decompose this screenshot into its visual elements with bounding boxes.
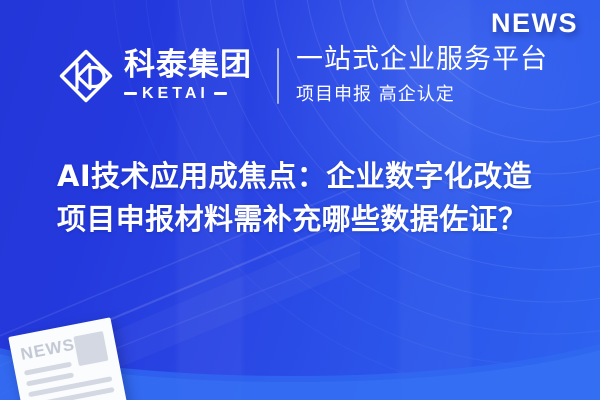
news-badge: NEWS — [491, 8, 578, 39]
brand-wordmark: 科泰集团 KETAI — [124, 49, 252, 103]
headline-title: AI技术应用成焦点：企业数字化改造项目申报材料需补充哪些数据佐证？ — [57, 155, 557, 241]
tagline-block: 一站式企业服务平台 项目申报 高企认定 — [296, 44, 548, 106]
brand-name-en: KETAI — [142, 85, 209, 103]
brand-name-en-row: KETAI — [124, 85, 252, 103]
dash-right-decoration — [214, 92, 227, 95]
news-banner: NEWS 科泰集团 KETAI 一站式企业 — [0, 0, 600, 400]
ketai-diamond-kd-monogram-icon — [57, 47, 115, 105]
tagline-main: 一站式企业服务平台 — [296, 44, 548, 76]
brand-name-cn: 科泰集团 — [124, 49, 252, 82]
dash-left-decoration — [124, 92, 137, 95]
tagline-sub: 项目申报 高企认定 — [296, 80, 548, 106]
brand-logo[interactable]: 科泰集团 KETAI — [57, 42, 252, 110]
logo-divider — [277, 48, 279, 104]
